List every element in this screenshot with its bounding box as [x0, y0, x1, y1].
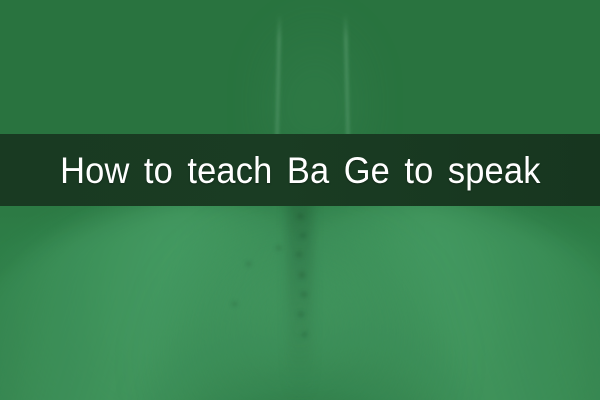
title-banner: How to teach Ba Ge to speak	[0, 134, 600, 206]
header-image-canvas: How to teach Ba Ge to speak	[0, 0, 600, 400]
page-title: How to teach Ba Ge to speak	[60, 152, 541, 189]
